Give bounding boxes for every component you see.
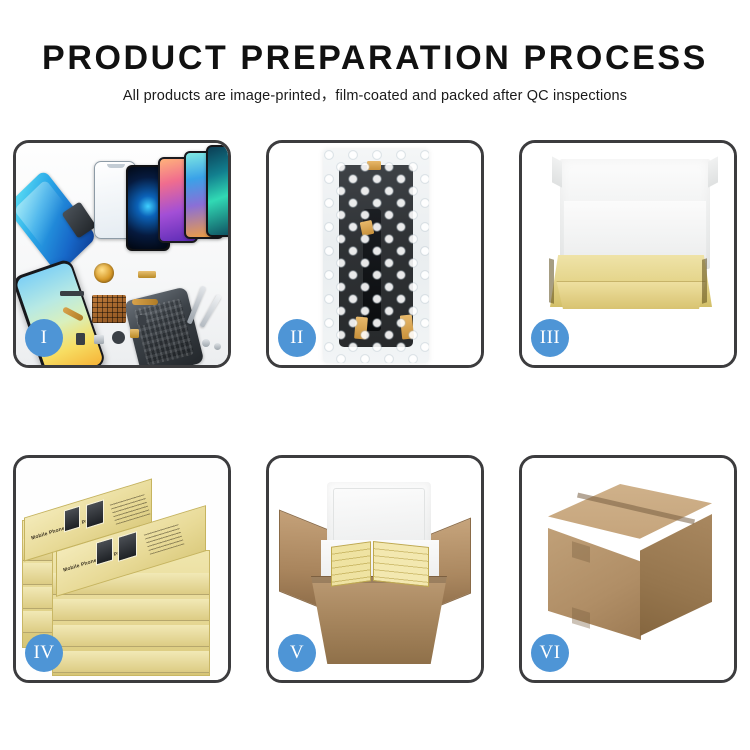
step-badge-4: IV — [25, 634, 63, 672]
step-badge-3: III — [531, 319, 569, 357]
step-5-illustration: V — [269, 458, 481, 680]
yellow-box-front-graphic — [550, 281, 712, 309]
yellow-box-group-a — [331, 541, 371, 587]
step-4-illustration: Mobile Phone Spare Parts Mobile Phone Sp… — [16, 458, 228, 680]
small-part-graphic — [76, 333, 85, 345]
small-part-graphic — [130, 329, 139, 338]
step-6-illustration: VI — [522, 458, 734, 680]
green-phone-graphic — [206, 145, 228, 237]
product-preparation-infographic: PRODUCT PREPARATION PROCESS All products… — [0, 0, 750, 750]
step-badge-5: V — [278, 634, 316, 672]
page-title: PRODUCT PREPARATION PROCESS — [0, 38, 750, 78]
step-panel-1[interactable]: I — [13, 140, 231, 368]
step-1-illustration: I — [16, 143, 228, 365]
step-badge-2: II — [278, 319, 316, 357]
process-steps-grid: I II — [13, 140, 737, 683]
copper-coil-graphic — [94, 263, 114, 283]
small-part-graphic — [132, 299, 158, 305]
step-panel-3[interactable]: III — [519, 140, 737, 368]
yellow-box-group-b — [373, 541, 429, 587]
step-panel-5[interactable]: V — [266, 455, 484, 683]
box-edge-left-graphic — [549, 258, 554, 303]
step-panel-2[interactable]: II — [266, 140, 484, 368]
small-part-graphic — [112, 331, 125, 344]
small-part-graphic — [214, 343, 221, 350]
step-2-illustration: II — [269, 143, 481, 365]
step-panel-4[interactable]: Mobile Phone Spare Parts Mobile Phone Sp… — [13, 455, 231, 683]
bubble-texture-overlay — [323, 149, 429, 363]
step-panel-6[interactable]: VI — [519, 455, 737, 683]
foam-sheet-graphic — [564, 201, 706, 263]
yellow-boxes-inside-graphic — [331, 544, 429, 584]
bubble-wrap-bag-graphic — [323, 149, 429, 363]
page-subtitle: All products are image-printed，film-coat… — [0, 87, 750, 105]
carton-body-graphic — [311, 576, 447, 664]
circuit-chip-grid-graphic — [92, 295, 126, 323]
small-part-graphic — [60, 291, 84, 296]
small-part-graphic — [94, 335, 104, 344]
small-part-graphic — [138, 315, 146, 325]
box-edge-right-graphic — [702, 258, 707, 303]
small-part-graphic — [202, 339, 210, 347]
step-badge-1: I — [25, 319, 63, 357]
step-badge-6: VI — [531, 634, 569, 672]
small-part-graphic — [138, 271, 156, 278]
step-3-illustration: III — [522, 143, 734, 365]
header: PRODUCT PREPARATION PROCESS All products… — [0, 0, 750, 105]
